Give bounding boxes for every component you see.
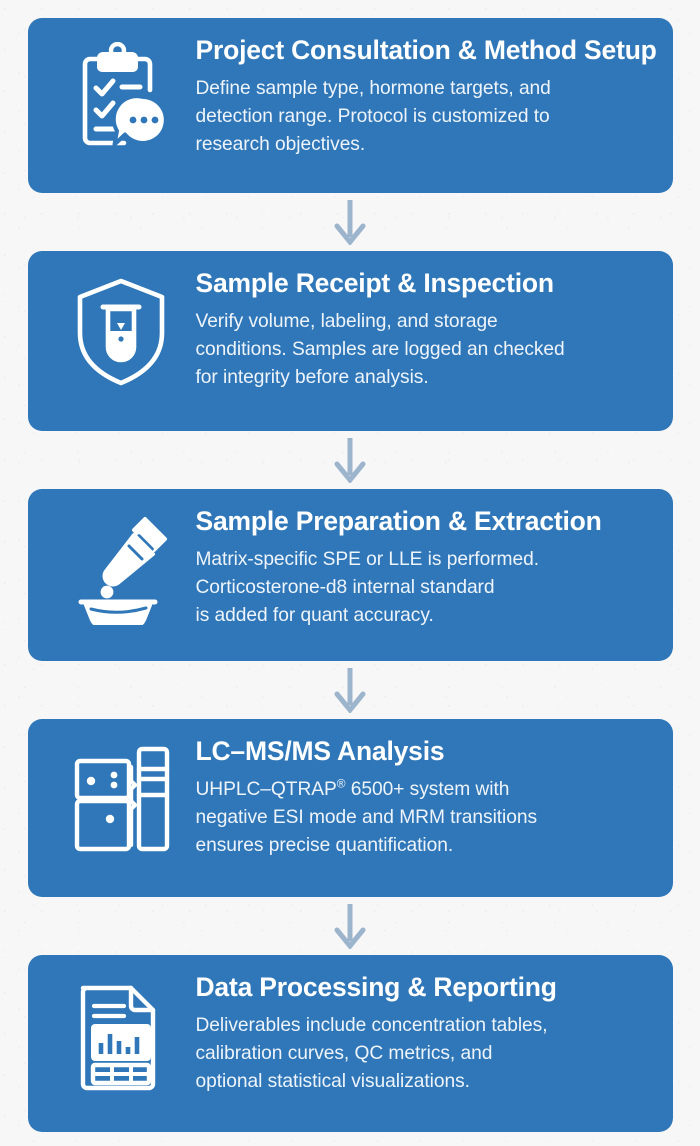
workflow-step-card-3: Sample Preparation & Extraction Matrix-s… (28, 489, 673, 661)
clipboard-checklist-chat-icon (46, 34, 196, 154)
workflow-step-card-2: Sample Receipt & Inspection Verify volum… (28, 251, 673, 431)
arrow-step-1-to-2 (28, 193, 673, 251)
description-line: detection range. Protocol is customized … (196, 103, 657, 131)
description-line: negative ESI mode and MRM transitions (196, 804, 649, 832)
workflow-step-title-4: LC–MS/MS Analysis (196, 737, 649, 767)
workflow-step-card-5: Data Processing & Reporting Deliverables… (28, 955, 673, 1132)
description-line: research objectives. (196, 131, 657, 159)
description-line: for integrity before analysis. (196, 364, 649, 392)
workflow-step-card-1: Project Consultation & Method Setup Defi… (28, 18, 673, 193)
lcms-instrument-icon (46, 735, 196, 853)
description-line: calibration curves, QC metrics, and (196, 1040, 649, 1068)
workflow-diagram: Project Consultation & Method Setup Defi… (28, 0, 673, 1132)
description-line: Define sample type, hormone targets, and (196, 75, 657, 103)
workflow-step-description-1: Define sample type, hormone targets, and… (196, 75, 657, 160)
workflow-step-description-4: UHPLC–QTRAP® 6500+ system with negative … (196, 776, 649, 861)
description-line: optional statistical visualizations. (196, 1068, 649, 1096)
workflow-step-title-3: Sample Preparation & Extraction (196, 507, 649, 537)
workflow-step-text-4: LC–MS/MS Analysis UHPLC–QTRAP® 6500+ sys… (196, 735, 655, 860)
report-document-chart-icon (46, 971, 196, 1093)
workflow-step-title-1: Project Consultation & Method Setup (196, 36, 657, 66)
workflow-step-description-2: Verify volume, labeling, and storage con… (196, 308, 649, 393)
workflow-step-title-5: Data Processing & Reporting (196, 973, 649, 1003)
workflow-step-text-3: Sample Preparation & Extraction Matrix-s… (196, 505, 655, 630)
workflow-step-description-3: Matrix-specific SPE or LLE is performed.… (196, 546, 649, 631)
arrow-step-3-to-4 (28, 661, 673, 719)
workflow-step-title-2: Sample Receipt & Inspection (196, 269, 649, 299)
pipette-dish-icon (46, 505, 196, 625)
description-line: Matrix-specific SPE or LLE is performed. (196, 546, 649, 574)
description-line: is added for quant accuracy. (196, 602, 649, 630)
description-line: conditions. Samples are logged an checke… (196, 336, 649, 364)
workflow-step-text-2: Sample Receipt & Inspection Verify volum… (196, 267, 655, 392)
description-line: Deliverables include concentration table… (196, 1012, 649, 1040)
arrow-step-2-to-3 (28, 431, 673, 489)
description-line: ensures precise quantification. (196, 832, 649, 860)
shield-test-tube-icon (46, 267, 196, 389)
arrow-step-4-to-5 (28, 897, 673, 955)
description-line: Verify volume, labeling, and storage (196, 308, 649, 336)
workflow-step-text-5: Data Processing & Reporting Deliverables… (196, 971, 655, 1096)
workflow-step-text-1: Project Consultation & Method Setup Defi… (196, 34, 663, 159)
description-line: Corticosterone-d8 internal standard (196, 574, 649, 602)
workflow-step-description-5: Deliverables include concentration table… (196, 1012, 649, 1097)
description-line: UHPLC–QTRAP® 6500+ system with (196, 776, 649, 804)
workflow-step-card-4: LC–MS/MS Analysis UHPLC–QTRAP® 6500+ sys… (28, 719, 673, 897)
